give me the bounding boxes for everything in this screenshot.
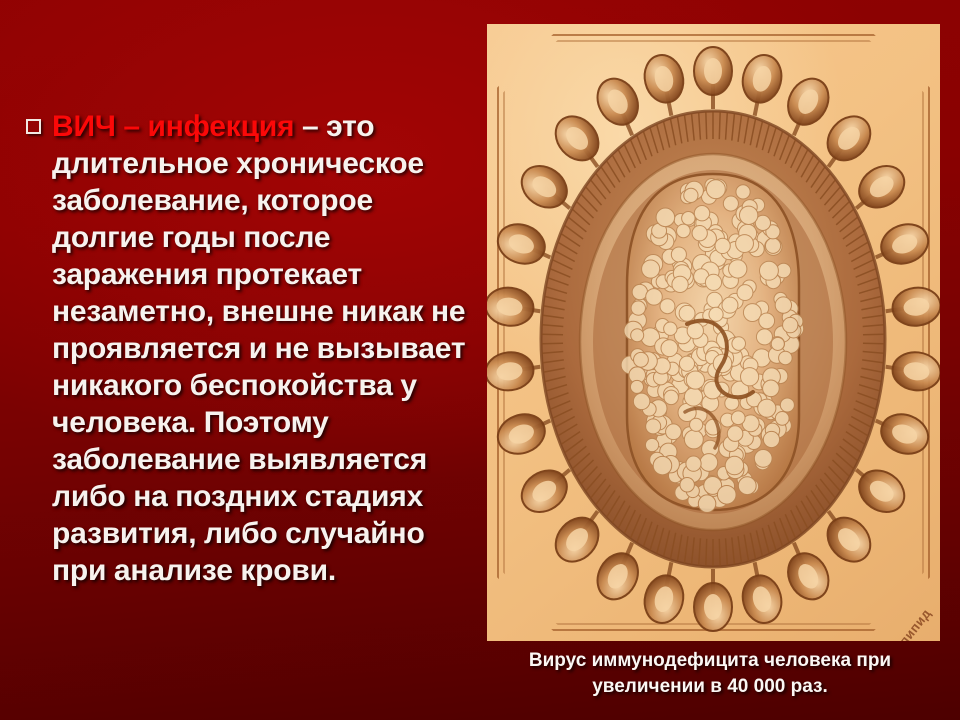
bullet-text-block: ВИЧ – инфекция – это длительное хроничес…	[26, 108, 466, 589]
figure-caption: Вирус иммунодефицита человека при увелич…	[470, 648, 950, 700]
hiv-virion-image: липид	[487, 24, 940, 641]
figure-panel: липид	[487, 24, 940, 641]
paragraph-body: – это длительное хроническое заболевание…	[52, 110, 465, 587]
list-item: ВИЧ – инфекция – это длительное хроничес…	[26, 108, 466, 589]
highlight-term: ВИЧ – инфекция	[52, 110, 294, 143]
slide-canvas: ВИЧ – инфекция – это длительное хроничес…	[0, 0, 960, 720]
paragraph-text: ВИЧ – инфекция – это длительное хроничес…	[52, 108, 466, 589]
virus-diagram-svg	[487, 24, 940, 641]
square-bullet-icon	[26, 119, 41, 134]
